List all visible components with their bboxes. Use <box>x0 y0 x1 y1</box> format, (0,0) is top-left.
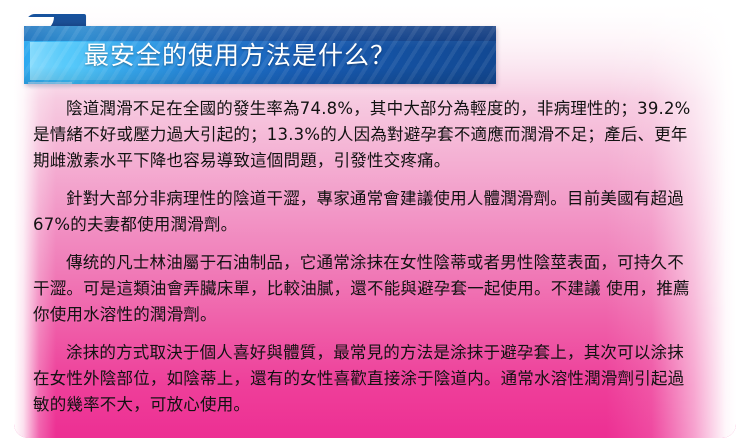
paragraph: 涂抹的方式取決于個人喜好與體質，最常見的方法是涂抹于避孕套上，其次可以涂抹在女性… <box>33 340 695 418</box>
page-title: 最安全的使用方法是什么？ <box>84 38 486 74</box>
banner-body: 最安全的使用方法是什么？ <box>24 26 496 84</box>
article-body: 陰道潤滑不足在全國的發生率為74.8%，其中大部分為輕度的，非病理性的；39.2… <box>33 96 695 418</box>
ribbon-shadow-lip <box>28 82 72 90</box>
slide-root: 最安全的使用方法是什么？ 陰道潤滑不足在全國的發生率為74.8%，其中大部分為輕… <box>0 0 750 444</box>
title-banner: 最安全的使用方法是什么？ <box>24 14 496 88</box>
paragraph: 針對大部分非病理性的陰道干澀，專家通常會建議使用人體潤滑劑。目前美國有超過67%… <box>33 186 695 238</box>
paragraph: 陰道潤滑不足在全國的發生率為74.8%，其中大部分為輕度的，非病理性的；39.2… <box>33 96 695 174</box>
paragraph: 傳统的凡士林油屬于石油制品，它通常涂抹在女性陰蒂或者男性陰莖表面，可持久不干澀。… <box>33 250 695 328</box>
